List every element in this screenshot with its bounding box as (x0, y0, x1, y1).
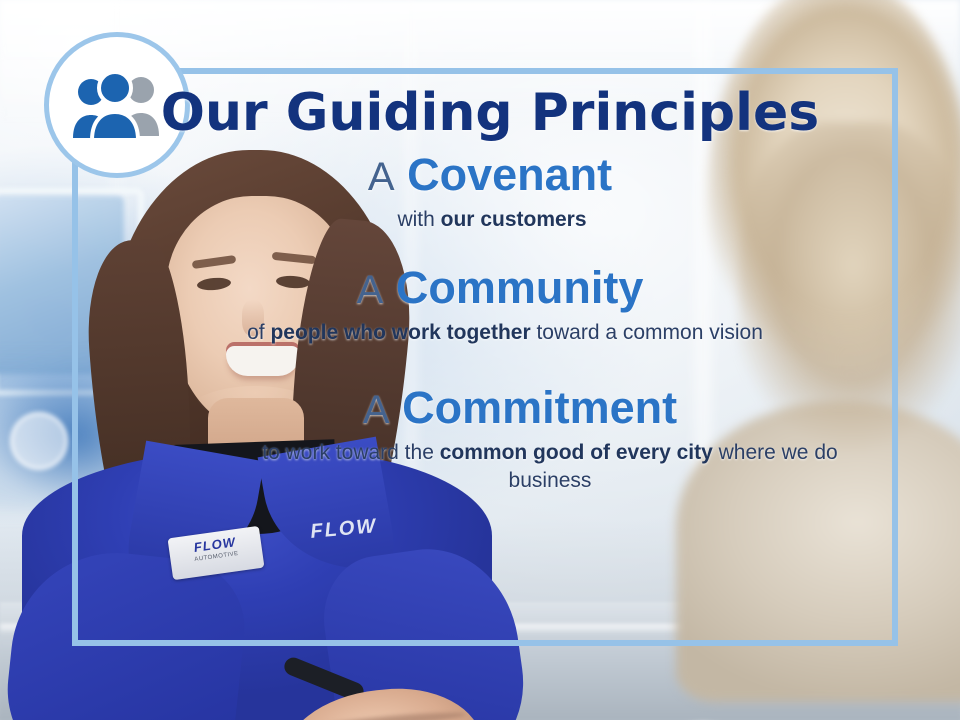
principle-covenant: A Covenant with our customers (120, 151, 860, 235)
principle-commitment-detail-part-0: to work toward the (262, 441, 439, 464)
principle-community: A Community of people who work together … (120, 264, 860, 348)
principle-commitment: A Commitment to work toward the common g… (120, 384, 860, 496)
principle-community-word: Community (396, 262, 644, 313)
principle-community-detail-part-1: people who work together (270, 321, 530, 344)
page-title: Our Guiding Principles (120, 86, 860, 141)
principle-commitment-article: A (363, 388, 390, 432)
principle-community-detail: of people who work together toward a com… (120, 319, 860, 347)
principle-covenant-detail-part-1: our customers (441, 208, 587, 231)
principle-commitment-word: Commitment (402, 382, 677, 433)
principle-commitment-detail-part-1: common good of every city (440, 441, 713, 464)
principles-text-block: Our Guiding Principles A Covenant with o… (120, 86, 860, 496)
marketing-graphic: FLOW AUTOMOTIVE FLOW Our Guiding Princip… (0, 0, 960, 720)
principle-covenant-word: Covenant (407, 149, 612, 200)
principle-covenant-detail-part-0: with (397, 208, 440, 231)
principle-community-article: A (357, 268, 384, 312)
principle-community-detail-part-0: of (247, 321, 270, 344)
principle-covenant-detail: with our customers (120, 206, 860, 234)
principle-community-heading: A Community (120, 264, 860, 311)
principle-community-detail-part-2: toward a common vision (531, 321, 763, 344)
principle-covenant-heading: A Covenant (120, 151, 860, 198)
principle-commitment-heading: A Commitment (120, 384, 860, 431)
principle-covenant-article: A (368, 155, 395, 199)
principle-commitment-detail: to work toward the common good of every … (120, 439, 860, 496)
